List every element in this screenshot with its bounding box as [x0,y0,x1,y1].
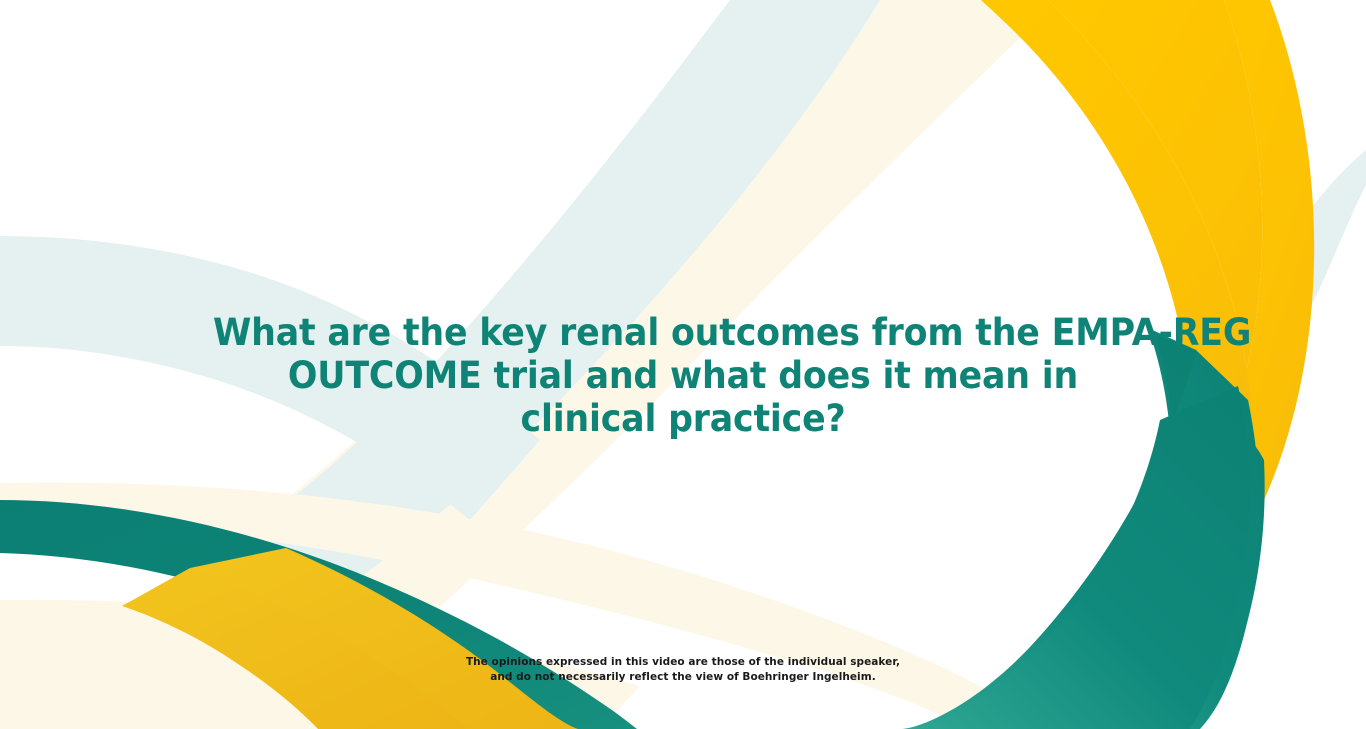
page-title: What are the key renal outcomes from the… [183,311,1183,440]
disclaimer-line-2: and do not necessarily reflect the view … [383,670,983,685]
title-slide: What are the key renal outcomes from the… [0,0,1366,729]
title-line-2: OUTCOME trial and what does it mean in [213,354,1153,397]
disclaimer: The opinions expressed in this video are… [383,655,983,685]
content-layer: What are the key renal outcomes from the… [0,0,1366,729]
disclaimer-line-1: The opinions expressed in this video are… [383,655,983,670]
title-line-1: What are the key renal outcomes from the… [213,311,1153,354]
title-line-3: clinical practice? [213,397,1153,440]
